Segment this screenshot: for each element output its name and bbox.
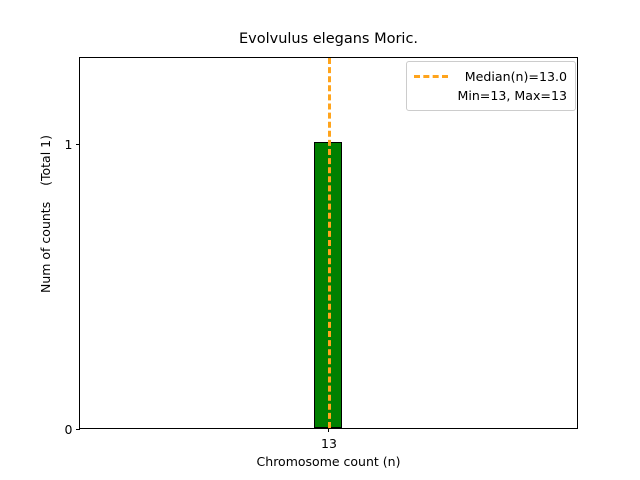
x-axis-label: Chromosome count (n)	[79, 454, 578, 469]
y-axis-label: Num of counts (Total 1)	[38, 28, 54, 400]
legend-label-minmax: Min=13, Max=13	[457, 86, 567, 105]
y-axis-label-line1: Num of counts	[38, 202, 53, 293]
y-axis-label-line2: (Total 1)	[38, 135, 53, 186]
chart-figure: Evolvulus elegans Moric. 0 1 13 Median(n…	[0, 0, 640, 480]
y-tick-0: 0	[76, 429, 80, 430]
bars-layer	[80, 58, 577, 428]
legend-dashed-line-icon	[414, 75, 448, 78]
y-axis-label-gap	[38, 186, 53, 202]
x-tick-13: 13	[328, 428, 329, 432]
y-tick-label-0: 0	[64, 422, 72, 438]
y-tick-label-1: 1	[64, 137, 72, 153]
x-tick-label-13: 13	[321, 436, 337, 452]
legend-text: Median(n)=13.0 Min=13, Max=13	[457, 67, 567, 105]
median-line	[328, 58, 331, 428]
legend-label-median: Median(n)=13.0	[457, 67, 567, 86]
chart-title: Evolvulus elegans Moric.	[79, 30, 578, 48]
plot-area: 0 1 13 Median(n)=13.0 Min=13, Max=13	[79, 57, 578, 429]
chart-legend[interactable]: Median(n)=13.0 Min=13, Max=13	[406, 61, 576, 111]
